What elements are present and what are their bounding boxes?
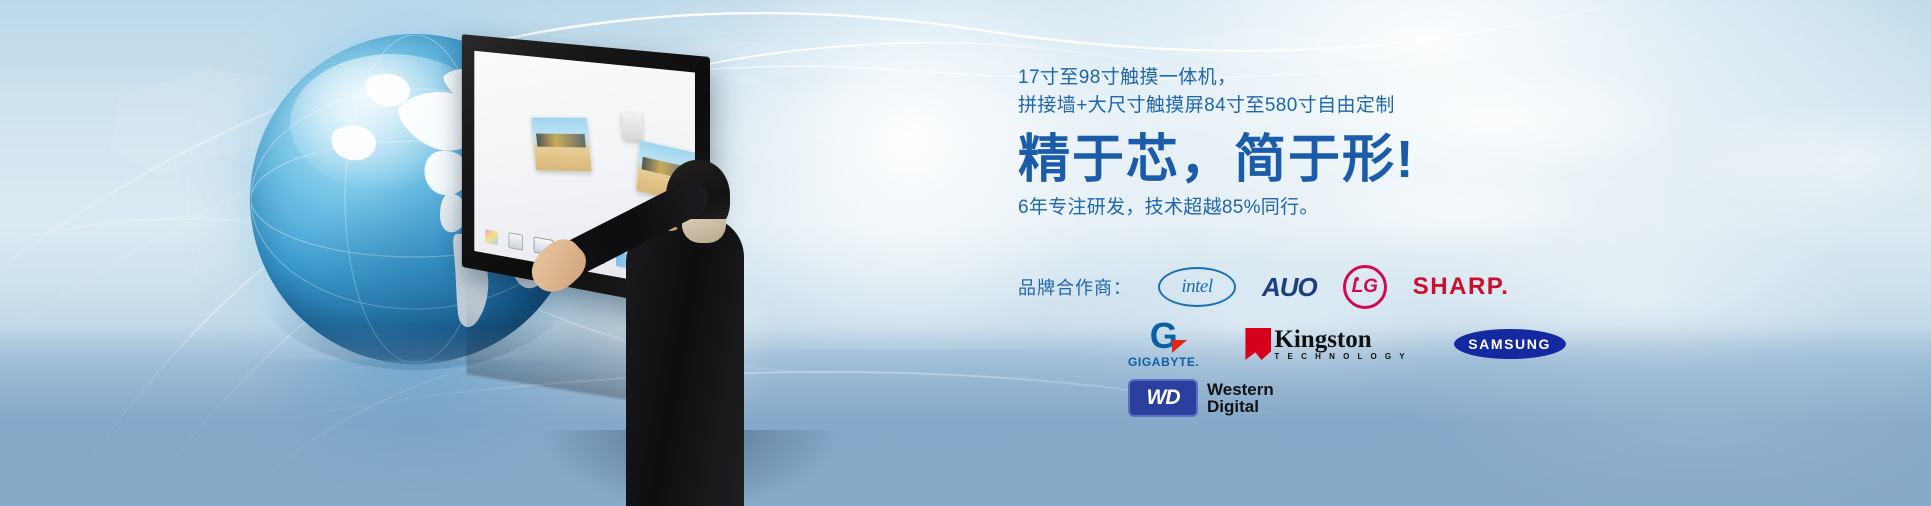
photo-content [536, 133, 586, 147]
auo-logo-text: AUO [1262, 272, 1317, 303]
page-title: 精于芯，简于形! [1018, 130, 1838, 190]
person-torso [626, 217, 744, 506]
gigabyte-logo[interactable]: G GIGABYTE. [1128, 319, 1199, 369]
person-touching-screen [496, 155, 796, 506]
partners-label: 品牌合作商： [1018, 274, 1132, 300]
kingston-logo-text: Kingston [1274, 328, 1407, 352]
kingston-flag-icon [1245, 328, 1271, 360]
sharp-logo[interactable]: SHARP. [1413, 273, 1510, 301]
partner-row-2: G GIGABYTE. Kingston T E C H N O L O G Y… [1018, 319, 1878, 369]
samsung-logo-text: SAMSUNG [1468, 336, 1551, 352]
kingston-logo-subtext: T E C H N O L O G Y [1274, 352, 1407, 361]
subheading-line-2: 拼接墙+大尺寸触摸屏84寸至580寸自由定制 [1018, 92, 1838, 120]
promo-banner: 17寸至98寸触摸一体机， 拼接墙+大尺寸触摸屏84寸至580寸自由定制 精于芯… [0, 0, 1931, 506]
partner-row-3: WD Western Digital [1018, 379, 1878, 417]
wd-logo-line-2: Digital [1207, 398, 1274, 415]
samsung-logo[interactable]: SAMSUNG [1454, 329, 1566, 359]
person-hand [523, 231, 594, 301]
lg-logo[interactable]: LG [1343, 265, 1387, 309]
partner-row-1: 品牌合作商： intel AUO LG SHARP. [1018, 265, 1878, 309]
wd-logo-line-1: Western [1207, 381, 1274, 398]
auo-logo[interactable]: AUO [1262, 272, 1317, 303]
lg-logo-dot [1355, 277, 1359, 281]
headline-block: 17寸至98寸触摸一体机， 拼接墙+大尺寸触摸屏84寸至580寸自由定制 精于芯… [1018, 64, 1838, 222]
gigabyte-logo-mark: G [1143, 319, 1185, 353]
wd-badge-icon: WD [1128, 379, 1198, 417]
tagline: 6年专注研发，技术超越85%同行。 [1018, 194, 1838, 222]
gigabyte-logo-text: GIGABYTE. [1128, 355, 1199, 369]
intel-logo-text: intel [1181, 276, 1212, 298]
subheading-line-1: 17寸至98寸触摸一体机， [1018, 64, 1838, 92]
kingston-logo[interactable]: Kingston T E C H N O L O G Y [1245, 328, 1407, 361]
brand-partners: 品牌合作商： intel AUO LG SHARP. G GIGA [1018, 265, 1878, 417]
intel-logo[interactable]: intel [1158, 267, 1236, 307]
sharp-logo-text: SHARP. [1413, 273, 1510, 301]
western-digital-logo[interactable]: WD Western Digital [1128, 379, 1274, 417]
gigabyte-triangle-icon [1172, 340, 1187, 353]
screen-photo-item[interactable] [622, 112, 643, 141]
